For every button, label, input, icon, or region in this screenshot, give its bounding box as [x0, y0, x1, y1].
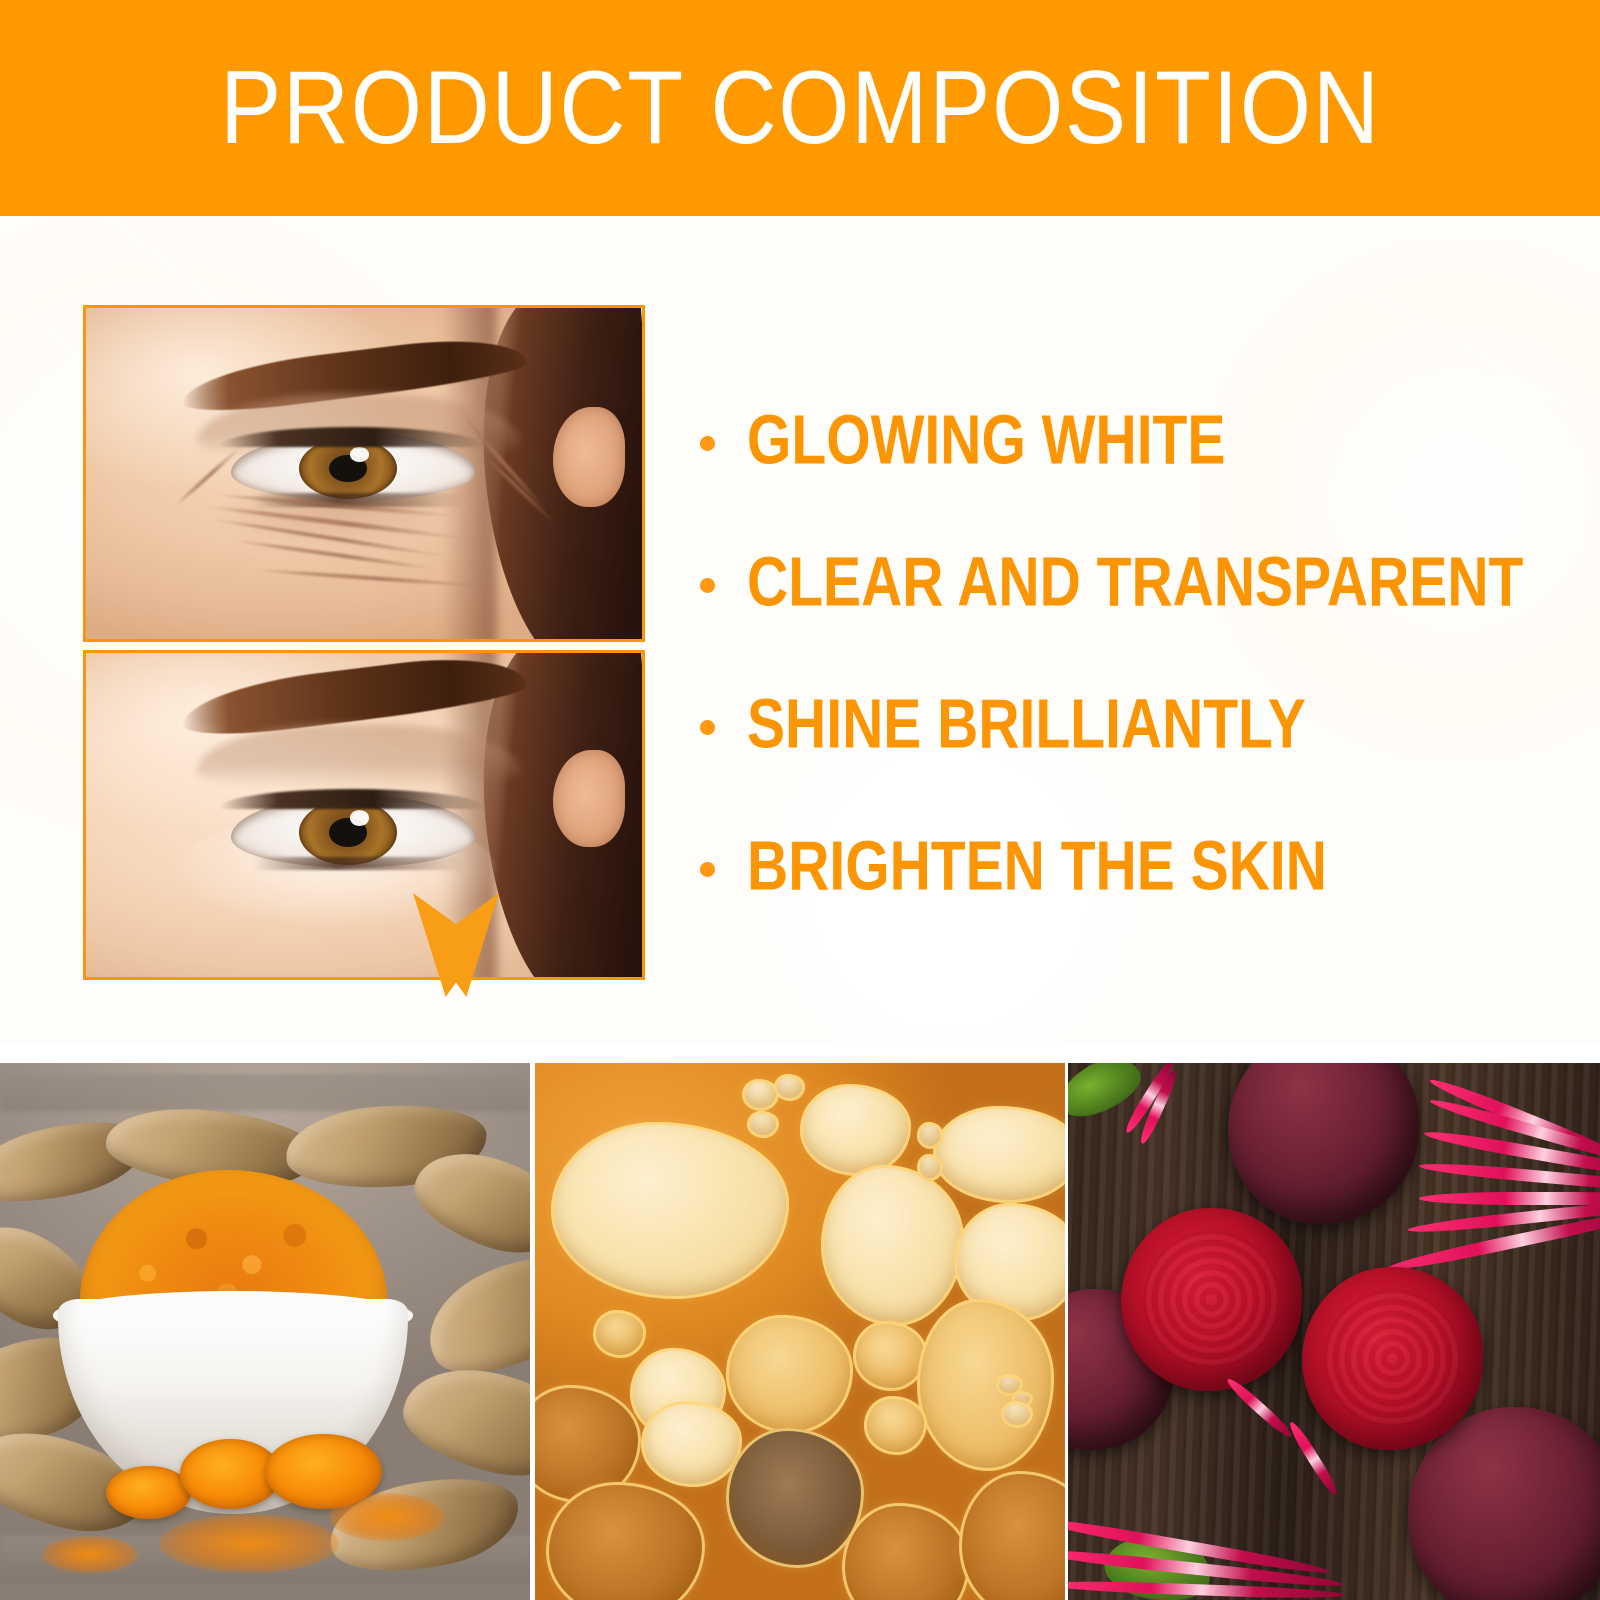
before-eye-image: [86, 308, 642, 639]
eye-highlight: [350, 810, 370, 826]
ear: [553, 407, 625, 506]
benefit-label: GLOWING WHITE: [747, 406, 1225, 475]
oil-bubble: [917, 1299, 1055, 1471]
beet-flesh-rings: [1324, 1289, 1461, 1428]
beet-flesh-rings: [1143, 1230, 1280, 1369]
ingredient-image-strip: [0, 1043, 1600, 1600]
oil-bubble: [800, 1084, 911, 1175]
benefits-list: GLOWING WHITE CLEAR AND TRANSPARENT SHIN…: [700, 370, 1540, 938]
oil-bubble: [726, 1428, 864, 1568]
product-composition-page: PRODUCT COMPOSITION: [0, 0, 1600, 1600]
oil-bubble: [864, 1396, 928, 1455]
list-item: BRIGHTEN THE SKIN: [700, 796, 1540, 938]
ingredient-panel-turmeric: [0, 1063, 530, 1600]
beetroot-halved: [1121, 1208, 1302, 1391]
oil-bubble: [747, 1111, 779, 1138]
oil-bubble: [774, 1074, 806, 1101]
bullet-dot-icon: [700, 720, 715, 735]
benefit-label: BRIGHTEN THE SKIN: [747, 832, 1327, 901]
after-eye-image: [86, 653, 642, 977]
list-item: CLEAR AND TRANSPARENT: [700, 512, 1540, 654]
list-item: SHINE BRILLIANTLY: [700, 654, 1540, 796]
spilled-powder: [159, 1514, 339, 1573]
bullet-dot-icon: [700, 578, 715, 593]
before-after-comparison: [83, 305, 645, 980]
oil-bubble: [917, 1122, 944, 1149]
turmeric-slice: [106, 1466, 191, 1520]
benefit-label: SHINE BRILLIANTLY: [747, 690, 1306, 759]
oil-bubble: [726, 1315, 853, 1433]
beetroot-halved: [1302, 1267, 1483, 1450]
benefit-label: CLEAR AND TRANSPARENT: [747, 548, 1523, 617]
bullet-dot-icon: [700, 436, 715, 451]
after-image-frame: [83, 650, 645, 980]
spilled-powder: [329, 1493, 446, 1541]
ear: [553, 750, 625, 847]
before-image-frame: [83, 305, 645, 642]
iris: [299, 800, 397, 866]
beet-stalk: [1419, 1192, 1600, 1205]
ingredient-panel-oil: [535, 1063, 1065, 1600]
ingredient-panel-beetroot: [1068, 1063, 1600, 1600]
bullet-dot-icon: [700, 862, 715, 877]
wood-plank: [0, 1074, 530, 1112]
spilled-powder: [42, 1536, 137, 1574]
lower-lash-line: [253, 857, 464, 870]
oil-bubble: [917, 1154, 944, 1181]
oil-bubble: [641, 1401, 742, 1487]
header-banner: PRODUCT COMPOSITION: [0, 0, 1600, 216]
list-item: GLOWING WHITE: [700, 370, 1540, 512]
eye-highlight: [350, 447, 370, 462]
page-title: PRODUCT COMPOSITION: [220, 56, 1381, 160]
